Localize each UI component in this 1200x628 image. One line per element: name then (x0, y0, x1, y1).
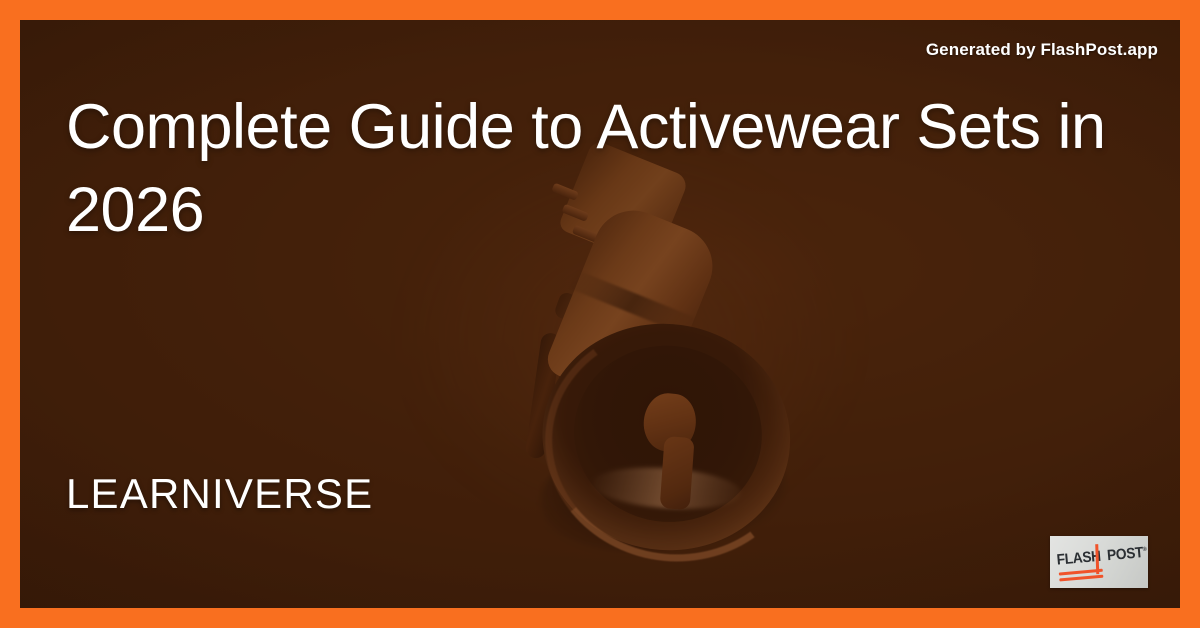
attribution-label: Generated by FlashPost.app (926, 40, 1158, 60)
flashpost-logo-word-post: POST (1106, 544, 1143, 564)
flashpost-logo-badge: FLASHPOST® (1050, 536, 1148, 588)
banner-canvas: Generated by FlashPost.app Complete Guid… (20, 20, 1180, 608)
flashpost-logo-trademark: ® (1143, 547, 1147, 553)
brand-name: LEARNIVERSE (66, 470, 373, 518)
flashpost-logo-inner: FLASHPOST® (1050, 536, 1148, 588)
social-share-banner: Generated by FlashPost.app Complete Guid… (0, 0, 1200, 628)
page-title: Complete Guide to Activewear Sets in 202… (66, 86, 1156, 252)
banner-content: Generated by FlashPost.app Complete Guid… (20, 20, 1180, 608)
flashpost-logo-stripe (1059, 575, 1103, 582)
